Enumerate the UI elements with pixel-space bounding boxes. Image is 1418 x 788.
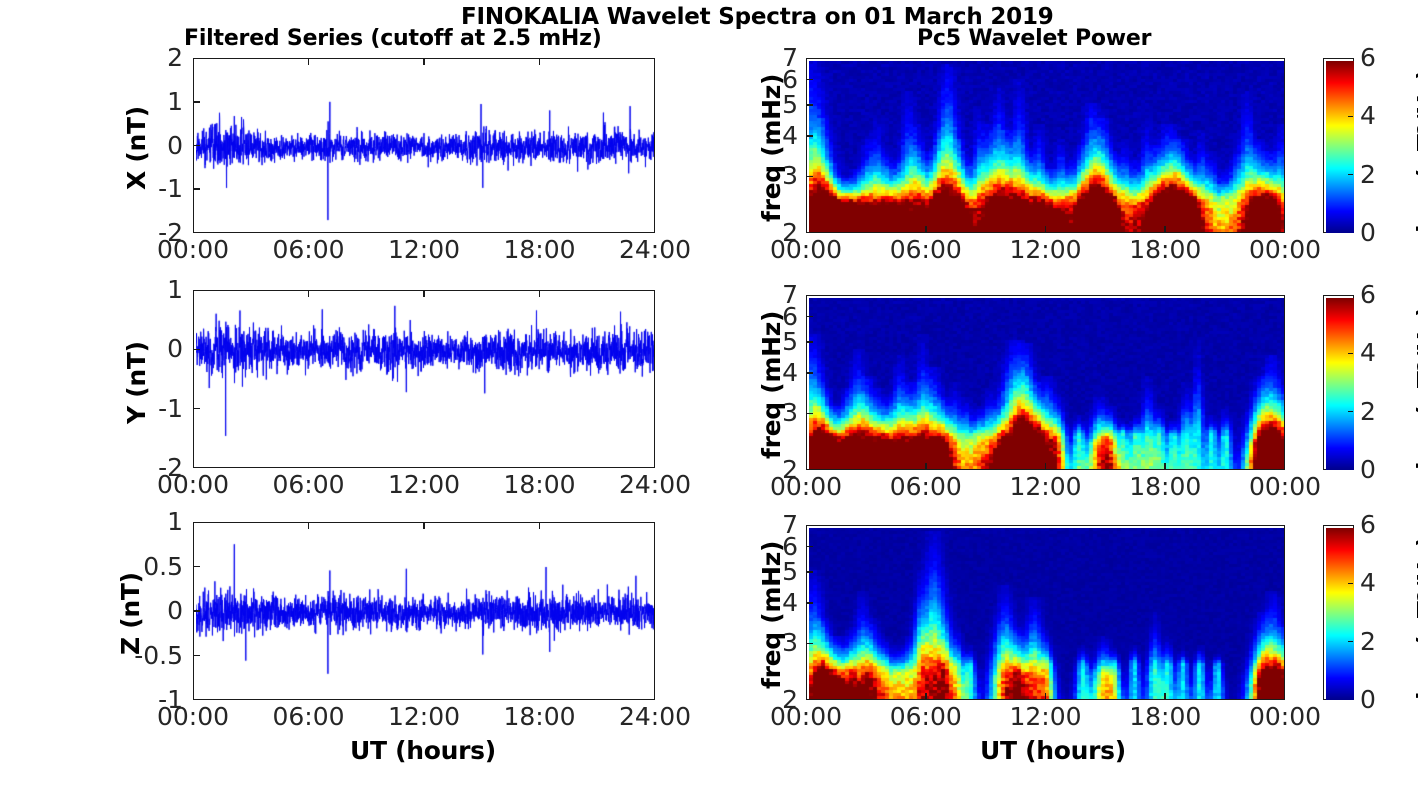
- xtick-X-filtered-3: [539, 58, 541, 65]
- xtick-X-wavelet-3: [1164, 226, 1166, 233]
- colorbar-ticklabel-0-0: 0: [1360, 220, 1376, 245]
- xticklabel-X-wavelet-4: 00:00: [1249, 237, 1321, 262]
- xtick-Y-filtered-3: [539, 290, 541, 297]
- colorbar-ticklabel-0-2: 4: [1360, 103, 1376, 128]
- colorbar-gradient-x: [1326, 61, 1354, 233]
- colorbar-ticklabel-1-1: 2: [1360, 399, 1376, 424]
- timeseries-axes-y: [193, 290, 655, 468]
- colorbar-ticklabel-0-3: 6: [1360, 45, 1376, 70]
- ylabel-freq-x: freq (mHz): [759, 74, 784, 222]
- xtick-Y-filtered-1: [308, 290, 310, 297]
- xticklabel-Y-filtered-1: 06:00: [272, 472, 344, 497]
- xticklabel-X-filtered-3: 18:00: [503, 237, 575, 262]
- yticklabel-Y-wavelet-1: 3: [782, 400, 798, 425]
- xtick-Z-filtered-2: [423, 522, 425, 529]
- xticklabel-X-wavelet-3: 18:00: [1129, 237, 1201, 262]
- yticklabel-Z-wavelet-3: 5: [782, 559, 798, 584]
- xlabel-left: UT (hours): [350, 738, 496, 763]
- xtick-Z-wavelet-3: [1164, 693, 1166, 700]
- xticklabel-Z-filtered-4: 24:00: [619, 704, 691, 729]
- yticklabel-Z-wavelet-5: 7: [782, 512, 798, 537]
- xtick-Z-filtered-1: [308, 522, 310, 529]
- xtick-Y-filtered-2: [423, 290, 425, 297]
- colorbar-tick-1-1: [1348, 411, 1353, 412]
- timeseries-plot-z: [196, 525, 655, 700]
- ytick-Y-wavelet-4: [806, 316, 813, 318]
- colorbar-gradient-y: [1326, 298, 1354, 470]
- left-column-title: Filtered Series (cutoff at 2.5 mHz): [184, 28, 602, 50]
- ytick-X-wavelet-1: [806, 176, 813, 178]
- xtick-Y-wavelet-1: [925, 463, 927, 470]
- wavelet-spectrogram-x: [809, 61, 1285, 233]
- colorbar-ticklabel-2-0: 0: [1360, 687, 1376, 712]
- ytick-Z-wavelet-3: [806, 571, 813, 573]
- xticklabel-Z-wavelet-2: 12:00: [1009, 704, 1081, 729]
- colorbar-label-z: log2(nT2/Hz): [1414, 536, 1418, 700]
- xticklabel-Y-filtered-2: 12:00: [388, 472, 460, 497]
- timeseries-plot-x: [196, 61, 655, 233]
- colorbar-tick-0-2: [1348, 116, 1353, 117]
- ytick-Y-wavelet-1: [806, 413, 813, 415]
- ytick-X-wavelet-4: [806, 79, 813, 81]
- yticklabel-X-filtered-1: -1: [158, 176, 183, 201]
- colorbar-z: [1323, 525, 1354, 700]
- wavelet-spectrogram-y: [809, 298, 1285, 470]
- wavelet-spectrogram-z: [809, 528, 1285, 700]
- timeseries-axes-x: [193, 58, 655, 233]
- xticklabel-X-filtered-1: 06:00: [272, 237, 344, 262]
- ytick-X-filtered-2: [193, 145, 200, 147]
- ytick-Y-wavelet-3: [806, 341, 813, 343]
- colorbar-label-x: log2(nT2/Hz): [1414, 69, 1418, 233]
- xticklabel-Y-wavelet-1: 06:00: [890, 474, 962, 499]
- xticklabel-X-filtered-2: 12:00: [388, 237, 460, 262]
- yticklabel-Y-wavelet-3: 5: [782, 329, 798, 354]
- yticklabel-Y-filtered-3: 1: [167, 277, 183, 302]
- colorbar-x: [1323, 58, 1354, 233]
- figure-root: FINOKALIA Wavelet Spectra on 01 March 20…: [0, 0, 1418, 788]
- xlabel-right: UT (hours): [980, 738, 1126, 763]
- colorbar-ticklabel-2-1: 2: [1360, 629, 1376, 654]
- ytick-X-filtered-1: [193, 188, 200, 190]
- xticklabel-Y-wavelet-3: 18:00: [1129, 474, 1201, 499]
- colorbar-tick-0-1: [1348, 174, 1353, 175]
- colorbar-y: [1323, 295, 1354, 470]
- right-column-title: Pc5 Wavelet Power: [917, 28, 1151, 50]
- xticklabel-Y-wavelet-4: 00:00: [1249, 474, 1321, 499]
- xticklabel-Z-wavelet-0: 00:00: [770, 704, 842, 729]
- xticklabel-Z-filtered-3: 18:00: [503, 704, 575, 729]
- yticklabel-Y-filtered-2: 0: [167, 336, 183, 361]
- xtick-X-wavelet-1: [925, 226, 927, 233]
- yticklabel-Z-filtered-2: 0: [167, 598, 183, 623]
- xticklabel-X-wavelet-1: 06:00: [890, 237, 962, 262]
- ytick-Z-filtered-2: [193, 610, 200, 612]
- yticklabel-X-wavelet-2: 4: [782, 123, 798, 148]
- xticklabel-Z-filtered-2: 12:00: [388, 704, 460, 729]
- ytick-Z-wavelet-2: [806, 602, 813, 604]
- ytick-Y-filtered-2: [193, 349, 200, 351]
- ylabel-freq-y: freq (mHz): [759, 311, 784, 459]
- wavelet-axes-x: [806, 58, 1285, 233]
- xticklabel-Z-filtered-1: 06:00: [272, 704, 344, 729]
- xtick-X-wavelet-2: [1045, 226, 1047, 233]
- xticklabel-Y-filtered-3: 18:00: [503, 472, 575, 497]
- yticklabel-Z-filtered-1: -0.5: [134, 643, 183, 668]
- yticklabel-Z-wavelet-2: 4: [782, 590, 798, 615]
- timeseries-plot-y: [196, 293, 655, 468]
- ytick-Z-wavelet-4: [806, 546, 813, 548]
- xtick-Z-wavelet-1: [925, 693, 927, 700]
- xticklabel-X-wavelet-0: 00:00: [770, 237, 842, 262]
- xtick-X-filtered-1: [308, 58, 310, 65]
- colorbar-ticklabel-1-3: 6: [1360, 282, 1376, 307]
- yticklabel-Y-wavelet-2: 4: [782, 360, 798, 385]
- colorbar-ticklabel-0-1: 2: [1360, 162, 1376, 187]
- ytick-X-wavelet-2: [806, 135, 813, 137]
- xticklabel-Y-filtered-0: 00:00: [157, 472, 229, 497]
- xticklabel-X-wavelet-2: 12:00: [1009, 237, 1081, 262]
- wavelet-axes-y: [806, 295, 1285, 470]
- colorbar-ticklabel-2-2: 4: [1360, 570, 1376, 595]
- yticklabel-X-filtered-4: 2: [167, 45, 183, 70]
- colorbar-tick-2-2: [1348, 583, 1353, 584]
- xticklabel-Z-filtered-0: 00:00: [157, 704, 229, 729]
- ytick-Z-filtered-1: [193, 655, 200, 657]
- ytick-Y-wavelet-2: [806, 372, 813, 374]
- yticklabel-Y-filtered-1: -1: [158, 396, 183, 421]
- colorbar-ticklabel-2-3: 6: [1360, 512, 1376, 537]
- xtick-Z-wavelet-2: [1045, 693, 1047, 700]
- wavelet-axes-z: [806, 525, 1285, 700]
- xtick-X-filtered-2: [423, 58, 425, 65]
- xtick-Y-wavelet-2: [1045, 463, 1047, 470]
- yticklabel-Z-wavelet-1: 3: [782, 630, 798, 655]
- yticklabel-X-wavelet-5: 7: [782, 45, 798, 70]
- xticklabel-X-filtered-0: 00:00: [157, 237, 229, 262]
- xticklabel-Y-wavelet-2: 12:00: [1009, 474, 1081, 499]
- ylabel-y: Y (nT): [124, 341, 149, 424]
- xticklabel-Z-wavelet-1: 06:00: [890, 704, 962, 729]
- yticklabel-X-filtered-2: 0: [167, 133, 183, 158]
- ytick-X-wavelet-3: [806, 104, 813, 106]
- colorbar-gradient-z: [1326, 528, 1354, 700]
- ytick-Y-filtered-1: [193, 408, 200, 410]
- colorbar-ticklabel-1-2: 4: [1360, 340, 1376, 365]
- ytick-X-filtered-3: [193, 101, 200, 103]
- xticklabel-Y-filtered-4: 24:00: [619, 472, 691, 497]
- ytick-Z-filtered-3: [193, 566, 200, 568]
- ylabel-freq-z: freq (mHz): [759, 541, 784, 689]
- xtick-Y-wavelet-3: [1164, 463, 1166, 470]
- yticklabel-X-wavelet-3: 5: [782, 92, 798, 117]
- yticklabel-X-filtered-3: 1: [167, 89, 183, 114]
- ytick-Z-wavelet-1: [806, 643, 813, 645]
- timeseries-axes-z: [193, 522, 655, 700]
- colorbar-ticklabel-1-0: 0: [1360, 457, 1376, 482]
- yticklabel-X-wavelet-1: 3: [782, 163, 798, 188]
- yticklabel-Y-wavelet-5: 7: [782, 282, 798, 307]
- yticklabel-Z-filtered-3: 0.5: [143, 554, 183, 579]
- colorbar-tick-2-1: [1348, 641, 1353, 642]
- yticklabel-Z-filtered-4: 1: [167, 509, 183, 534]
- colorbar-label-y: log2(nT2/Hz): [1414, 306, 1418, 470]
- colorbar-tick-1-2: [1348, 353, 1353, 354]
- xticklabel-Z-wavelet-3: 18:00: [1129, 704, 1201, 729]
- xticklabel-Y-wavelet-0: 00:00: [770, 474, 842, 499]
- xticklabel-Z-wavelet-4: 00:00: [1249, 704, 1321, 729]
- ylabel-x: X (nT): [124, 106, 149, 190]
- xtick-Z-filtered-3: [539, 522, 541, 529]
- xticklabel-X-filtered-4: 24:00: [619, 237, 691, 262]
